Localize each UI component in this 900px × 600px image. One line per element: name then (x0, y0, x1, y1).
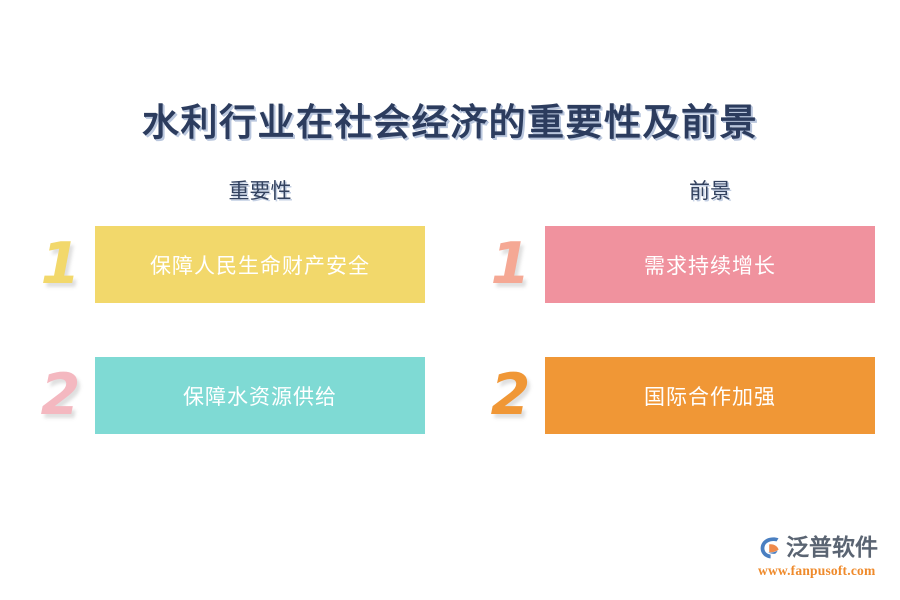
item-box[interactable]: 保障水资源供给 (95, 357, 425, 434)
infographic-canvas: 水利行业在社会经济的重要性及前景 重要性 1 保障人民生命财产安全 2 保障水资… (0, 0, 900, 600)
fanpu-logo-icon (757, 535, 783, 561)
list-item[interactable]: 1 需求持续增长 (475, 226, 875, 303)
column-header-prospect: 前景 (475, 178, 875, 208)
column-prospect: 前景 1 需求持续增长 2 国际合作加强 (475, 178, 875, 488)
item-box[interactable]: 需求持续增长 (545, 226, 875, 303)
item-number: 1 (25, 226, 95, 303)
page-title: 水利行业在社会经济的重要性及前景 (0, 92, 900, 146)
item-number: 2 (25, 357, 95, 434)
item-list-prospect: 1 需求持续增长 2 国际合作加强 (475, 226, 875, 434)
logo-lockup: 泛普软件 (757, 533, 892, 563)
column-importance: 重要性 1 保障人民生命财产安全 2 保障水资源供给 (25, 178, 425, 488)
logo-url: www.fanpusoft.com (757, 563, 892, 579)
item-box[interactable]: 保障人民生命财产安全 (95, 226, 425, 303)
item-number: 1 (475, 226, 545, 303)
list-item[interactable]: 2 保障水资源供给 (25, 357, 425, 434)
logo-brand-name: 泛普软件 (786, 535, 878, 561)
item-list-importance: 1 保障人民生命财产安全 2 保障水资源供给 (25, 226, 425, 434)
item-number: 2 (475, 357, 545, 434)
list-item[interactable]: 2 国际合作加强 (475, 357, 875, 434)
item-box[interactable]: 国际合作加强 (545, 357, 875, 434)
brand-logo[interactable]: 泛普软件 www.fanpusoft.com (757, 533, 892, 581)
column-header-importance: 重要性 (25, 178, 425, 208)
list-item[interactable]: 1 保障人民生命财产安全 (25, 226, 425, 303)
